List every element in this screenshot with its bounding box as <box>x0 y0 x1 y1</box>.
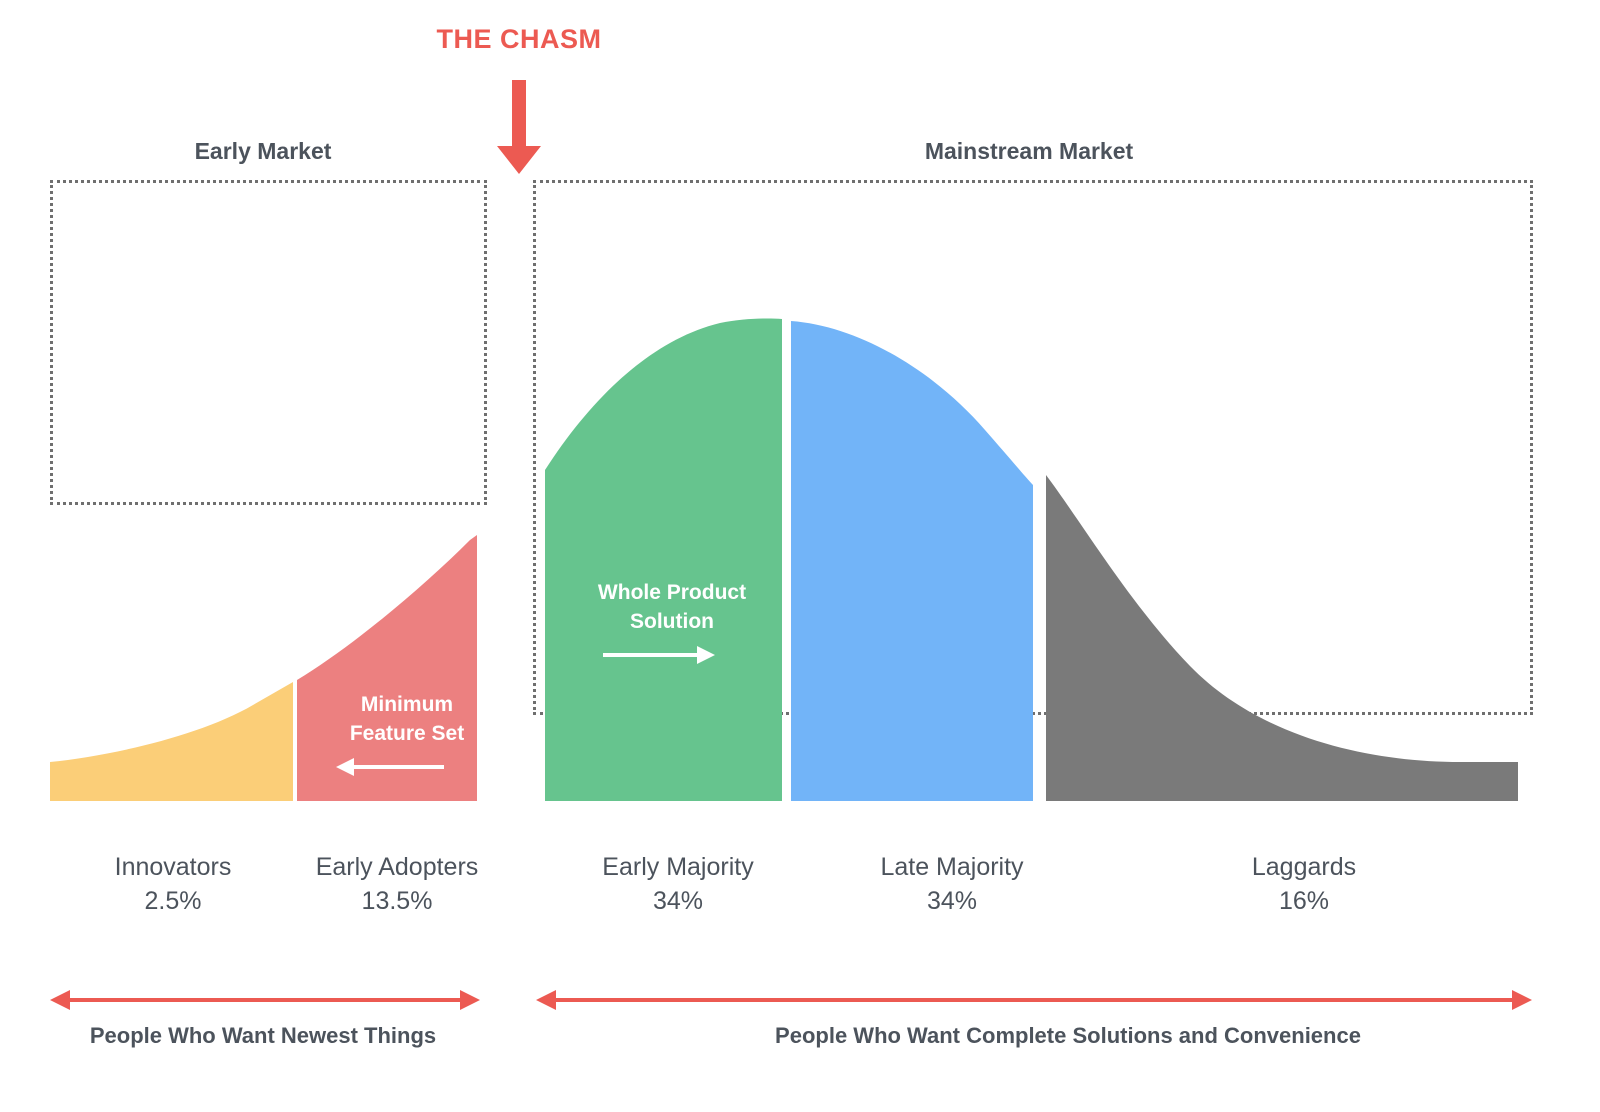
category-value: 13.5% <box>316 884 479 918</box>
annotation-whole-product-solution: Whole Product Solution <box>598 578 746 636</box>
category-name: Laggards <box>1252 850 1356 884</box>
category-name: Innovators <box>115 850 232 884</box>
annotation-mfs-line2: Feature Set <box>350 719 464 748</box>
chasm-down-arrow-icon <box>497 80 541 174</box>
annotation-wps-line2: Solution <box>598 607 746 636</box>
category-early-majority: Early Majority 34% <box>602 850 753 918</box>
category-value: 34% <box>880 884 1023 918</box>
early-market-span-arrow-icon <box>50 990 480 1010</box>
annotation-minimum-feature-set: Minimum Feature Set <box>350 690 464 748</box>
curve-segment-innovators <box>50 682 293 801</box>
curve-segment-early-adopters <box>297 535 477 801</box>
category-name: Early Adopters <box>316 850 479 884</box>
category-value: 2.5% <box>115 884 232 918</box>
category-name: Late Majority <box>880 850 1023 884</box>
category-laggards: Laggards 16% <box>1252 850 1356 918</box>
category-innovators: Innovators 2.5% <box>115 850 232 918</box>
curve-segment-late-majority <box>791 321 1033 801</box>
mainstream-market-span-arrow-icon <box>536 990 1532 1010</box>
category-value: 16% <box>1252 884 1356 918</box>
footer-caption-early-market: People Who Want Newest Things <box>90 1023 436 1049</box>
diagram-canvas: THE CHASM Early Market Mainstream Market <box>0 0 1600 1112</box>
category-value: 34% <box>602 884 753 918</box>
category-early-adopters: Early Adopters 13.5% <box>316 850 479 918</box>
annotation-mfs-line1: Minimum <box>350 690 464 719</box>
curve-segment-laggards <box>1046 475 1518 801</box>
category-late-majority: Late Majority 34% <box>880 850 1023 918</box>
curve-segment-early-majority <box>545 318 782 801</box>
annotation-wps-line1: Whole Product <box>598 578 746 607</box>
footer-caption-mainstream-market: People Who Want Complete Solutions and C… <box>775 1023 1361 1049</box>
adoption-curve <box>0 0 1600 1112</box>
category-name: Early Majority <box>602 850 753 884</box>
